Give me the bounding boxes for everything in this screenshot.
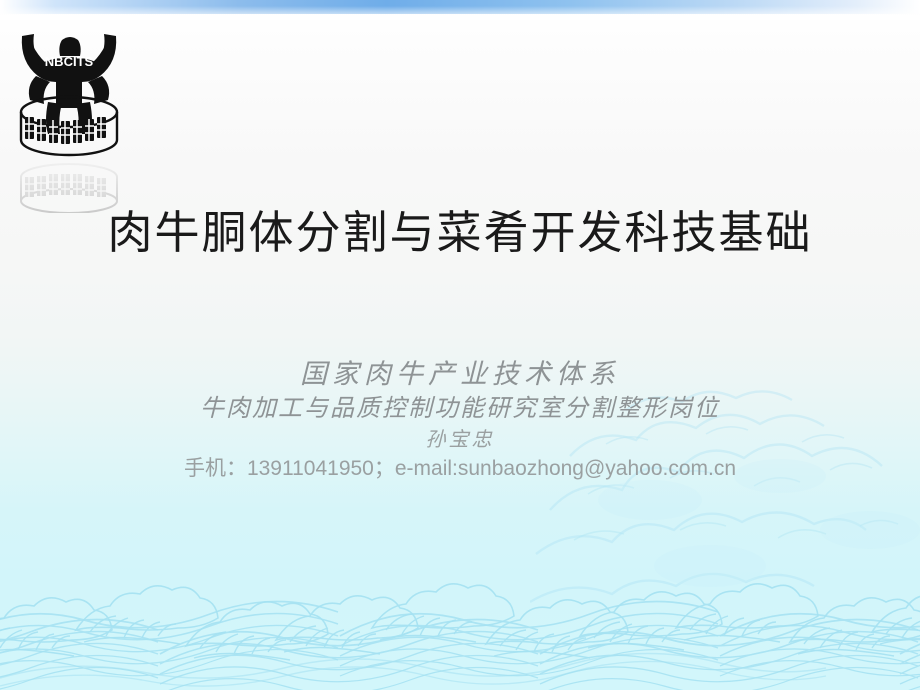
presentation-slide: NBCITS — [0, 0, 920, 690]
slide-subtitle-block: 国家肉牛产业技术体系 牛肉加工与品质控制功能研究室分割整形岗位 孙宝忠 手机：1… — [0, 356, 920, 484]
subtitle-organization: 国家肉牛产业技术体系 — [0, 356, 920, 392]
top-accent-band-fade — [0, 6, 920, 20]
subtitle-author: 孙宝忠 — [0, 426, 920, 454]
nbcits-logo-icon: NBCITS — [8, 18, 130, 158]
slide-title: 肉牛胴体分割与菜肴开发科技基础 — [0, 204, 920, 262]
subtitle-contact: 手机：13911041950；e-mail:sunbaozhong@yahoo.… — [0, 454, 920, 484]
subtitle-department: 牛肉加工与品质控制功能研究室分割整形岗位 — [0, 392, 920, 426]
logo-acronym-text: NBCITS — [45, 54, 94, 69]
organization-logo: NBCITS — [8, 18, 130, 193]
wave-decoration-band — [0, 560, 920, 690]
